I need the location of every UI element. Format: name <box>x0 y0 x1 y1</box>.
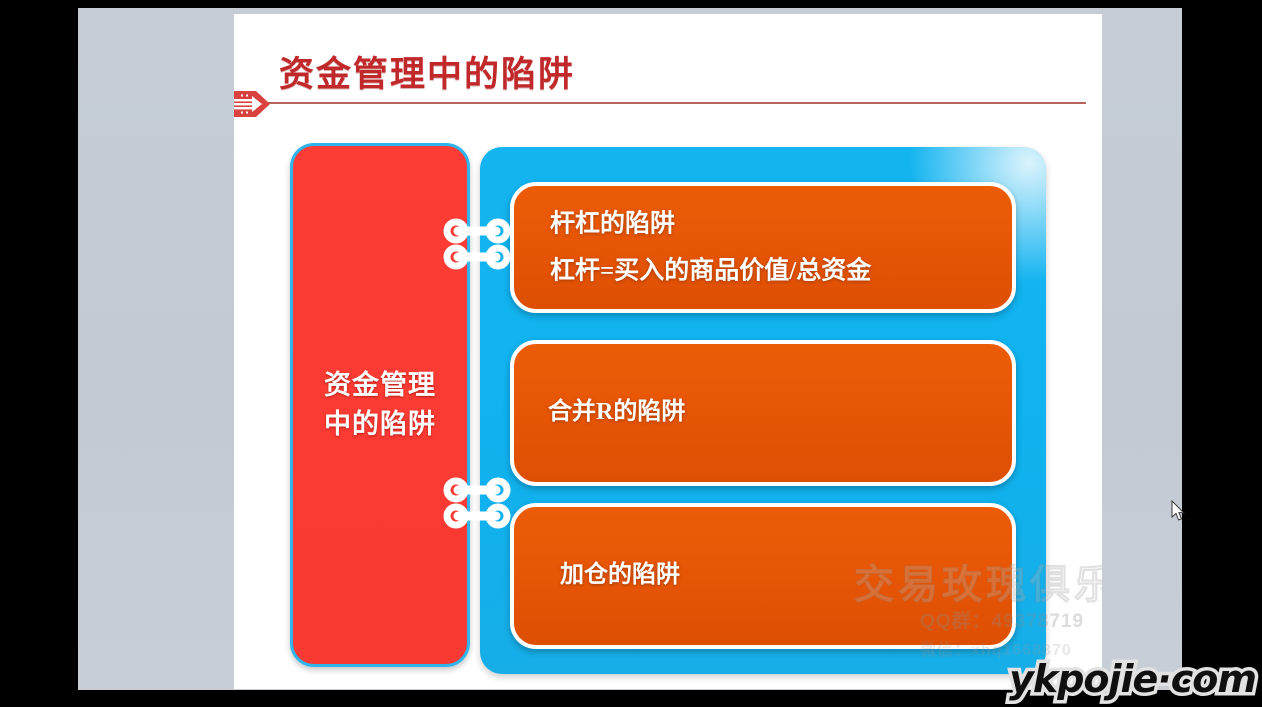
item-line-1: 加仓的陷阱 <box>560 553 998 599</box>
diagram-item-merge-r-trap[interactable]: 合并R的陷阱 <box>510 340 1016 486</box>
item-text-block: 加仓的陷阱 <box>560 553 998 599</box>
video-player-viewport: 资金管理中的陷阱 资金管理 中的陷阱 <box>0 0 1262 707</box>
root-label-line-1: 资金管理 <box>293 366 467 405</box>
chain-link-icon <box>442 476 512 532</box>
money-management-traps-diagram: 资金管理 中的陷阱 杆杠的陷阱 杠杆=买入的商品价值/总资金 合并R的陷阱 加仓… <box>234 14 1102 689</box>
item-line-2: 杠杆=买入的商品价值/总资金 <box>550 248 988 296</box>
presentation-slide: 资金管理中的陷阱 资金管理 中的陷阱 <box>234 14 1102 689</box>
item-line-1: 杆杠的陷阱 <box>550 200 988 248</box>
root-label-line-2: 中的陷阱 <box>293 405 467 444</box>
diagram-item-add-position-trap[interactable]: 加仓的陷阱 <box>510 503 1016 649</box>
chain-link-icon <box>442 217 512 273</box>
diagram-item-leverage-trap[interactable]: 杆杠的陷阱 杠杆=买入的商品价值/总资金 <box>510 182 1016 313</box>
site-watermark-badge: ykpojie·com <box>1009 657 1256 701</box>
item-line-1: 合并R的陷阱 <box>548 390 986 436</box>
item-text-block: 合并R的陷阱 <box>548 390 986 436</box>
diagram-root-label: 资金管理 中的陷阱 <box>293 366 467 444</box>
item-text-block: 杆杠的陷阱 杠杆=买入的商品价值/总资金 <box>550 200 988 295</box>
